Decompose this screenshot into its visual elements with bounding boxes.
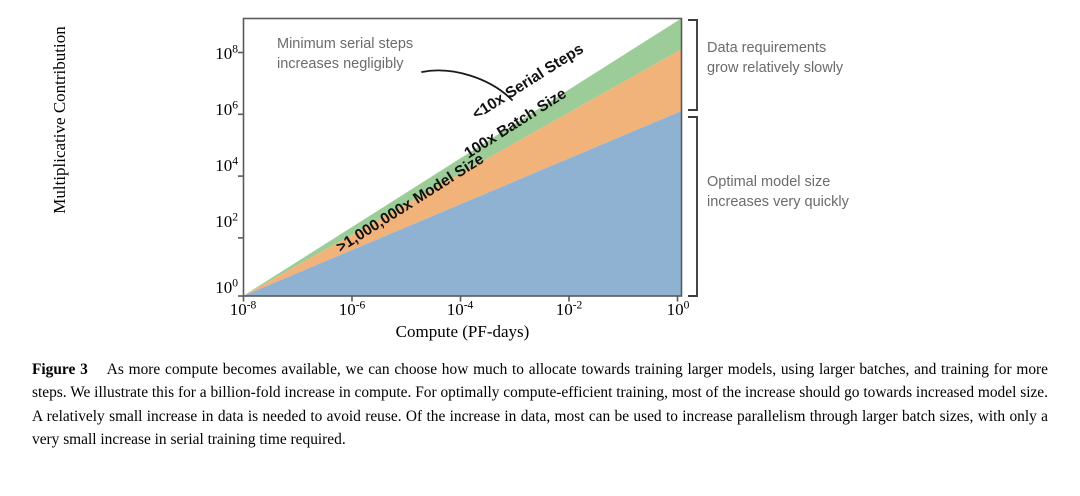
annotation-data-requirements: Data requirements grow relatively slowly [707,39,843,78]
figure-number: Figure 3 [32,361,88,378]
bracket-upper [688,20,697,110]
figure-caption-text: As more compute becomes available, we ca… [32,361,1048,448]
annotation-serial-steps: Minimum serial steps increases negligibl… [277,35,413,74]
plot-svg [0,0,1080,348]
figure-panel: Multiplicative Contribution 108 106 104 … [0,0,1080,348]
annotation-model-size: Optimal model size increases very quickl… [707,173,849,212]
x-tick-marks [244,296,678,302]
figure-page: Multiplicative Contribution 108 106 104 … [0,0,1080,496]
bracket-lower [688,117,697,296]
figure-caption: Figure 3 As more compute becomes availab… [32,358,1048,452]
y-tick-marks [238,53,244,297]
